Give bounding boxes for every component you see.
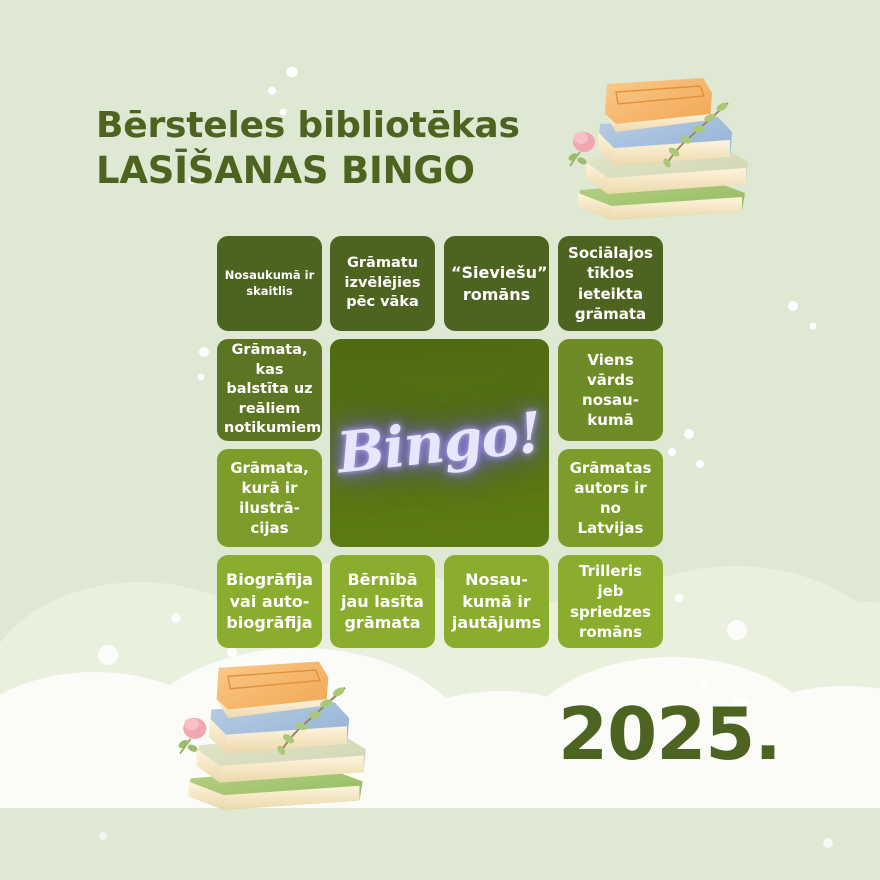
bingo-cell-r1c4[interactable]: Sociālajos tīklos ieteikta grāmata (558, 236, 663, 331)
bingo-cell-r3c1[interactable]: Grāmata, kurā ir ilustrā- cijas (217, 449, 322, 547)
bingo-cell-label: Grāmata, kas balstīta uz reāliem notikum… (224, 341, 315, 438)
bingo-cell-label: Grāmatas autors ir no Latvijas (565, 458, 656, 538)
bingo-cell-label: Grāmata, kurā ir ilustrā- cijas (224, 458, 315, 538)
bingo-cell-label: Viens vārds nosau- kumā (565, 350, 656, 430)
bingo-cell-r4c1[interactable]: Biogrāfija vai auto- biogrāfija (217, 555, 322, 648)
title-line-1: Bērsteles bibliotēkas (96, 104, 566, 148)
bingo-cell-r2c1[interactable]: Grāmata, kas balstīta uz reāliem notikum… (217, 339, 322, 441)
page-title: Bērsteles bibliotēkas LASĪŠANAS BINGO (96, 104, 566, 193)
bingo-cell-label: Sociālajos tīklos ieteikta grāmata (565, 243, 656, 323)
bingo-cell-r2c4[interactable]: Viens vārds nosau- kumā (558, 339, 663, 441)
title-line-2: LASĪŠANAS BINGO (96, 148, 566, 193)
bingo-cell-r4c2[interactable]: Bērnībā jau lasīta grāmata (330, 555, 435, 648)
bingo-cell-label: Grāmatu izvēlējies pēc vāka (337, 254, 428, 312)
book-stack-illustration-top (560, 62, 760, 227)
bingo-cell-r4c4[interactable]: Trilleris jeb spriedzes romāns (558, 555, 663, 648)
bingo-cell-label: Bērnībā jau lasīta grāmata (337, 569, 428, 633)
bingo-cell-label: “Sieviešu” romāns (451, 262, 542, 305)
bingo-cell-r1c1[interactable]: Nosaukumā ir skaitlis (217, 236, 322, 331)
bingo-cell-r1c3[interactable]: “Sieviešu” romāns (444, 236, 549, 331)
year-label: 2025. (558, 692, 781, 776)
bingo-cell-r1c2[interactable]: Grāmatu izvēlējies pēc vāka (330, 236, 435, 331)
bingo-cell-label: Trilleris jeb spriedzes romāns (565, 561, 656, 641)
bingo-center-tile[interactable]: Bingo! (330, 339, 549, 547)
bingo-cell-label: Nosau- kumā ir jautājums (451, 569, 542, 633)
bingo-cell-label: Nosaukumā ir skaitlis (224, 268, 315, 299)
bingo-cell-r3c4[interactable]: Grāmatas autors ir no Latvijas (558, 449, 663, 547)
bingo-cell-r4c3[interactable]: Nosau- kumā ir jautājums (444, 555, 549, 648)
bingo-center-label: Bingo! (334, 399, 544, 486)
bingo-grid: Nosaukumā ir skaitlis Grāmatu izvēlējies… (217, 236, 663, 648)
bingo-cell-label: Biogrāfija vai auto- biogrāfija (224, 569, 315, 633)
book-stack-illustration-bottom (168, 645, 380, 817)
